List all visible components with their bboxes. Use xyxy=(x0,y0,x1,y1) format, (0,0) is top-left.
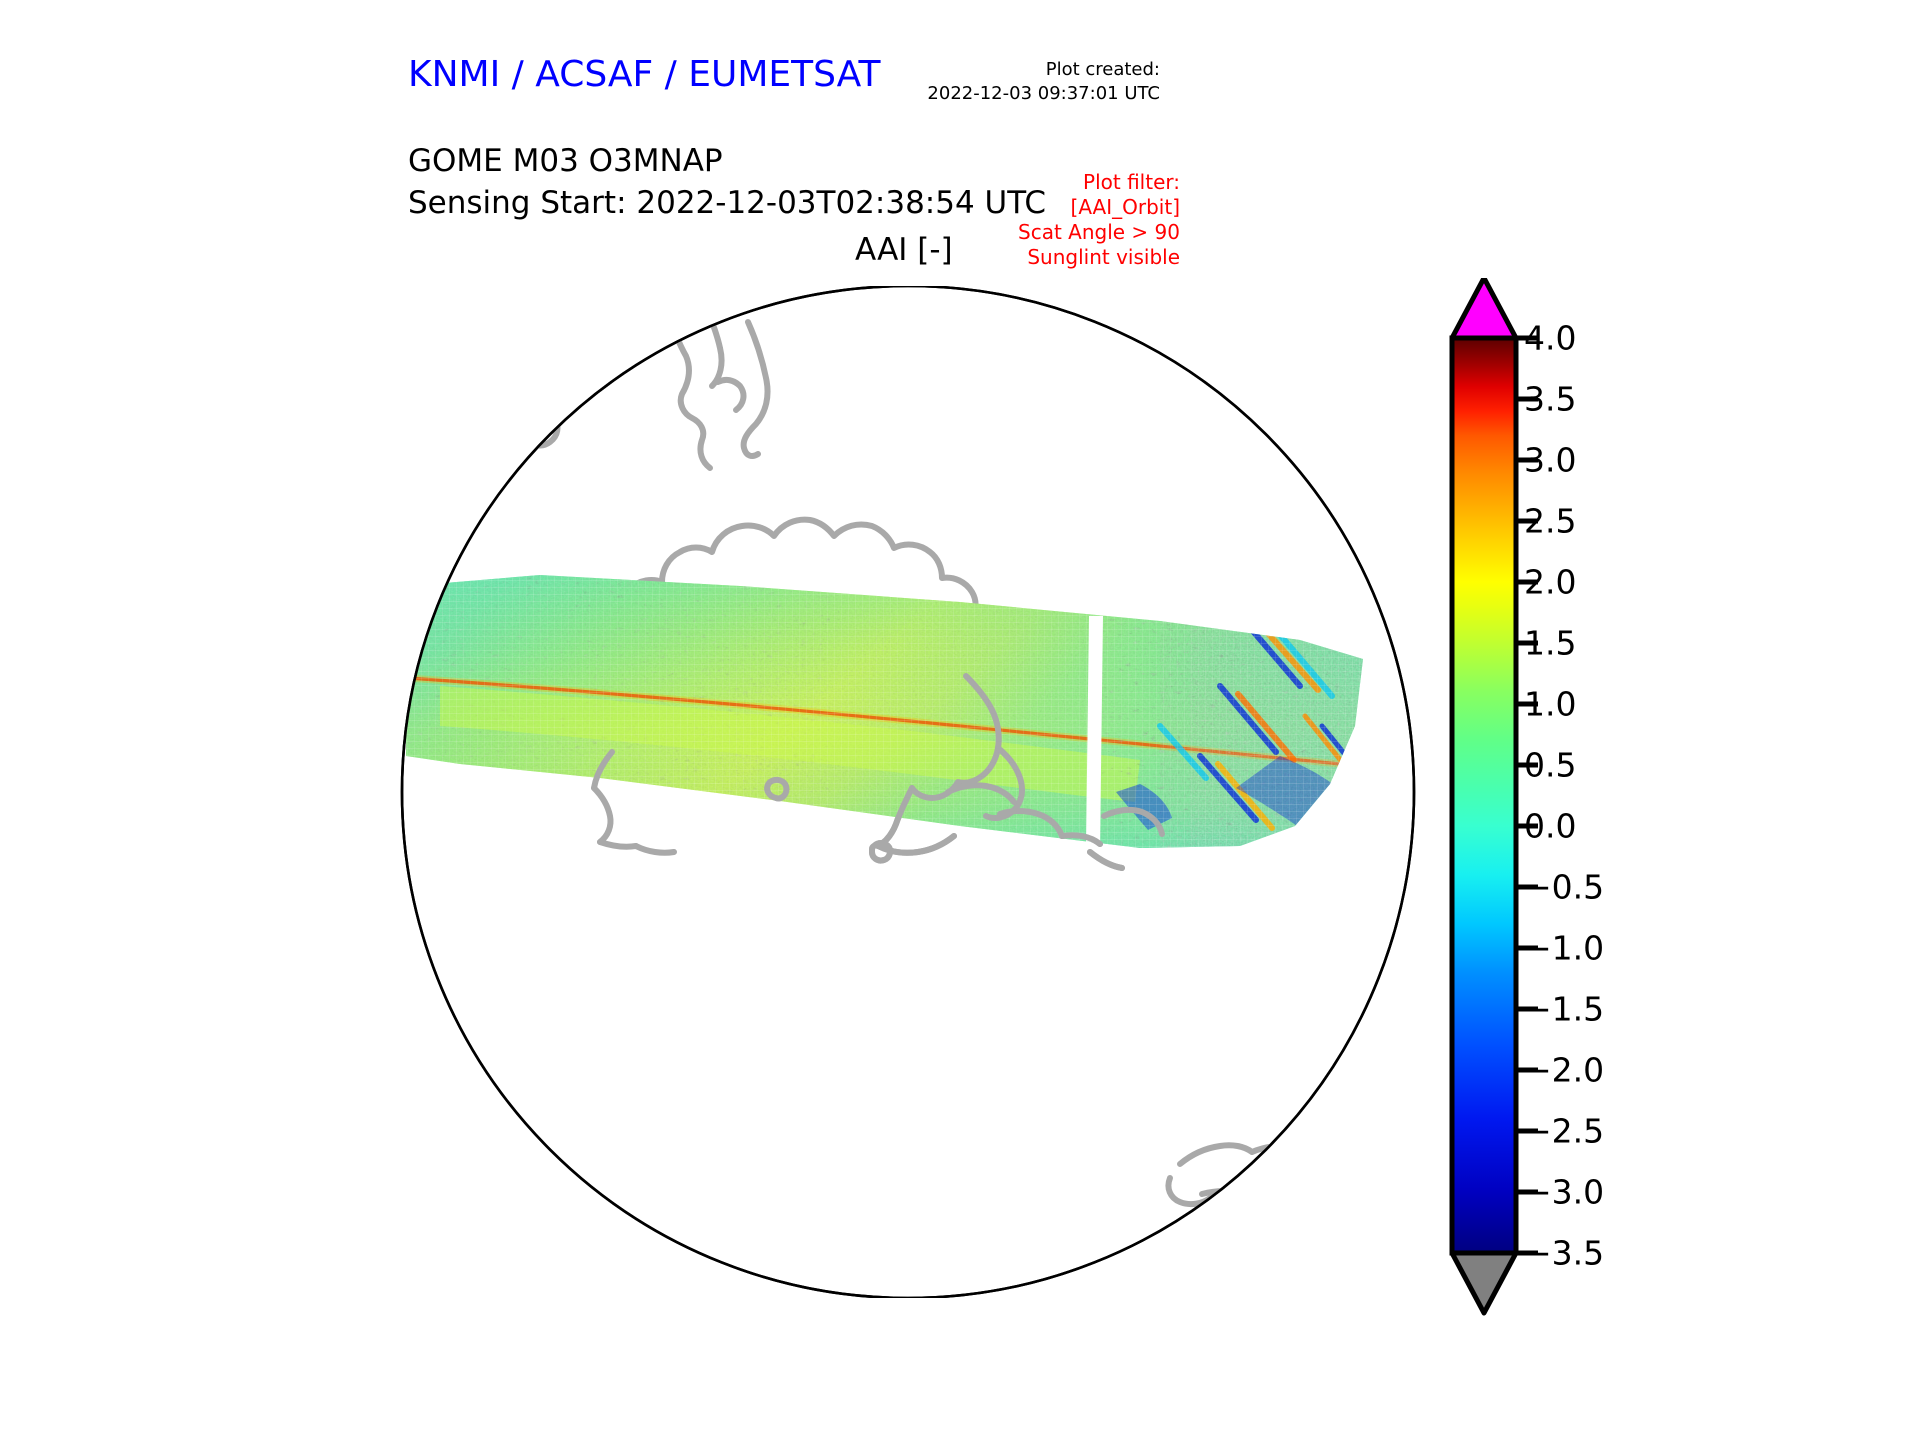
colorbar-over-arrow xyxy=(1452,278,1516,338)
colorbar-tick-label: −2.0 xyxy=(1524,1054,1604,1087)
colorbar-tick-label: −2.5 xyxy=(1524,1115,1604,1148)
colorbar-tick-label: 1.5 xyxy=(1524,627,1576,660)
plot-created-block: Plot created: 2022-12-03 09:37:01 UTC xyxy=(800,58,1160,106)
colorbar-tick-label: 2.0 xyxy=(1524,566,1576,599)
plot-created-label: Plot created: xyxy=(800,58,1160,82)
globe-map xyxy=(400,286,1416,1298)
colorbar-tick-label: 2.5 xyxy=(1524,505,1576,538)
colorbar-tick-labels: 4.0 3.5 3.0 2.5 2.0 1.5 1.0 0.5 0.0 −0.5… xyxy=(1524,278,1694,1318)
colorbar-tick-label: 3.5 xyxy=(1524,383,1576,416)
colorbar-tick-label: 0.5 xyxy=(1524,749,1576,782)
colorbar: 4.0 3.5 3.0 2.5 2.0 1.5 1.0 0.5 0.0 −0.5… xyxy=(1438,278,1768,1318)
colorbar-tick-label: −1.5 xyxy=(1524,993,1604,1026)
colorbar-tick-label: −3.0 xyxy=(1524,1176,1604,1209)
colorbar-tick-label: −0.5 xyxy=(1524,871,1604,904)
colorbar-tick-label: 1.0 xyxy=(1524,688,1576,721)
plot-filter-line-2: Scat Angle > 90 xyxy=(840,220,1180,245)
plot-filter-line-3: Sunglint visible xyxy=(840,245,1180,270)
plot-created-timestamp: 2022-12-03 09:37:01 UTC xyxy=(800,82,1160,106)
plot-filter-block: Plot filter: [AAI_Orbit] Scat Angle > 90… xyxy=(840,170,1180,270)
plot-filter-line-1: [AAI_Orbit] xyxy=(840,195,1180,220)
plot-page: KNMI / ACSAF / EUMETSAT Plot created: 20… xyxy=(0,0,1920,1440)
colorbar-gradient xyxy=(1452,338,1516,1253)
colorbar-under-arrow xyxy=(1452,1253,1516,1313)
globe-svg xyxy=(400,286,1416,1298)
colorbar-tick-label: −1.0 xyxy=(1524,932,1604,965)
plot-filter-title: Plot filter: xyxy=(840,170,1180,195)
colorbar-tick-label: 0.0 xyxy=(1524,810,1576,843)
colorbar-tick-label: 4.0 xyxy=(1524,322,1576,355)
colorbar-tick-label: 3.0 xyxy=(1524,444,1576,477)
colorbar-tick-label: −3.5 xyxy=(1524,1237,1604,1270)
